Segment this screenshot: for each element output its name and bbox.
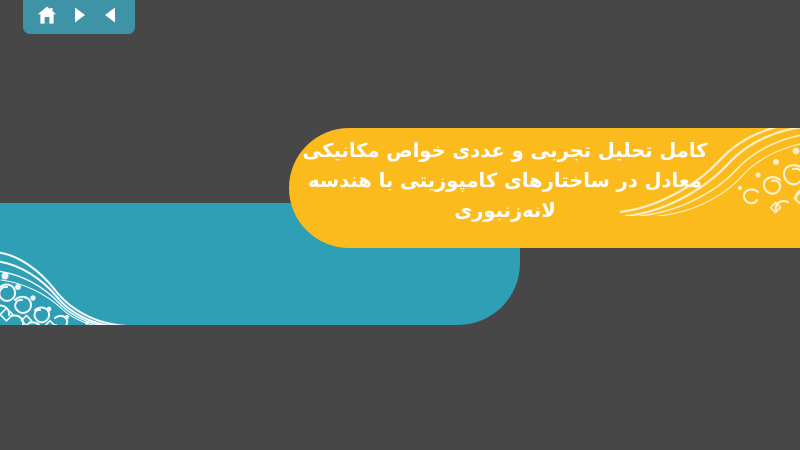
orange-banner bbox=[289, 128, 800, 248]
triangle-left-icon bbox=[102, 6, 120, 24]
navigation-bar bbox=[23, 0, 135, 34]
triangle-right-icon bbox=[70, 6, 88, 24]
arabesque-ornament-teal bbox=[0, 224, 155, 325]
previous-slide-button[interactable] bbox=[98, 3, 124, 27]
next-slide-button[interactable] bbox=[66, 3, 92, 27]
home-icon bbox=[37, 6, 57, 25]
home-button[interactable] bbox=[34, 3, 60, 27]
arabesque-ornament-orange bbox=[620, 128, 800, 216]
presentation-slide: کامل تحلیل تجربی و عددی خواص مکانیکی معا… bbox=[0, 0, 800, 450]
